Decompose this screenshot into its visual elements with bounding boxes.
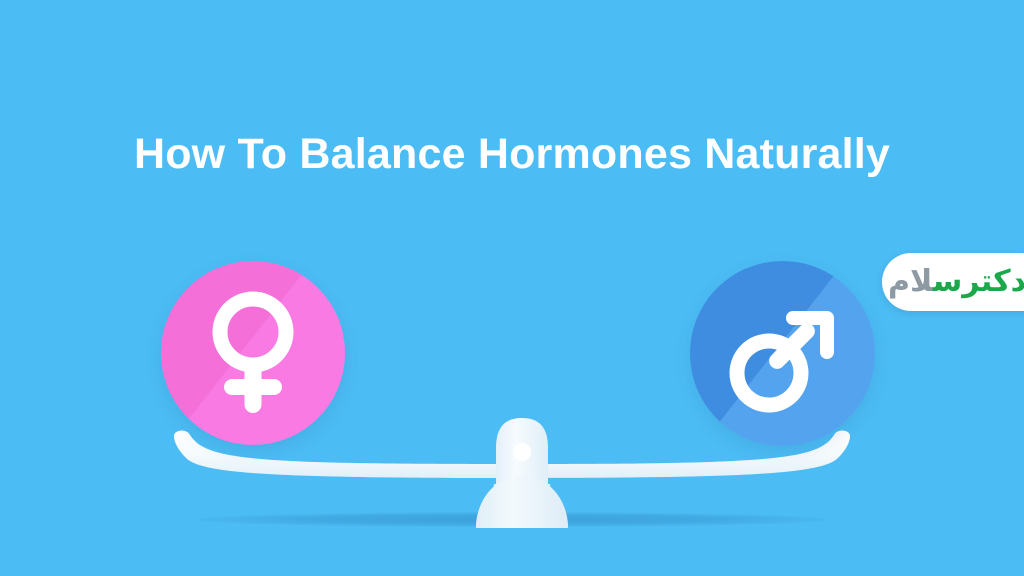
doctor-salam-logo[interactable]: دکترسلام: [882, 253, 1024, 311]
logo-text-tail: لام: [888, 264, 933, 299]
male-mars-icon: [690, 261, 875, 446]
logo-text: دکترسلام: [888, 264, 1024, 299]
female-hormone-disc[interactable]: [161, 261, 345, 445]
male-hormone-disc[interactable]: [690, 261, 875, 446]
slide-canvas: How To Balance Hormones Naturally: [0, 0, 1024, 576]
female-venus-icon: [161, 261, 345, 445]
page-title: How To Balance Hormones Naturally: [0, 128, 1024, 180]
balance-pedestal: [466, 414, 578, 532]
logo-text-main: دکترس: [933, 264, 1024, 299]
pivot-dot: [513, 443, 531, 461]
